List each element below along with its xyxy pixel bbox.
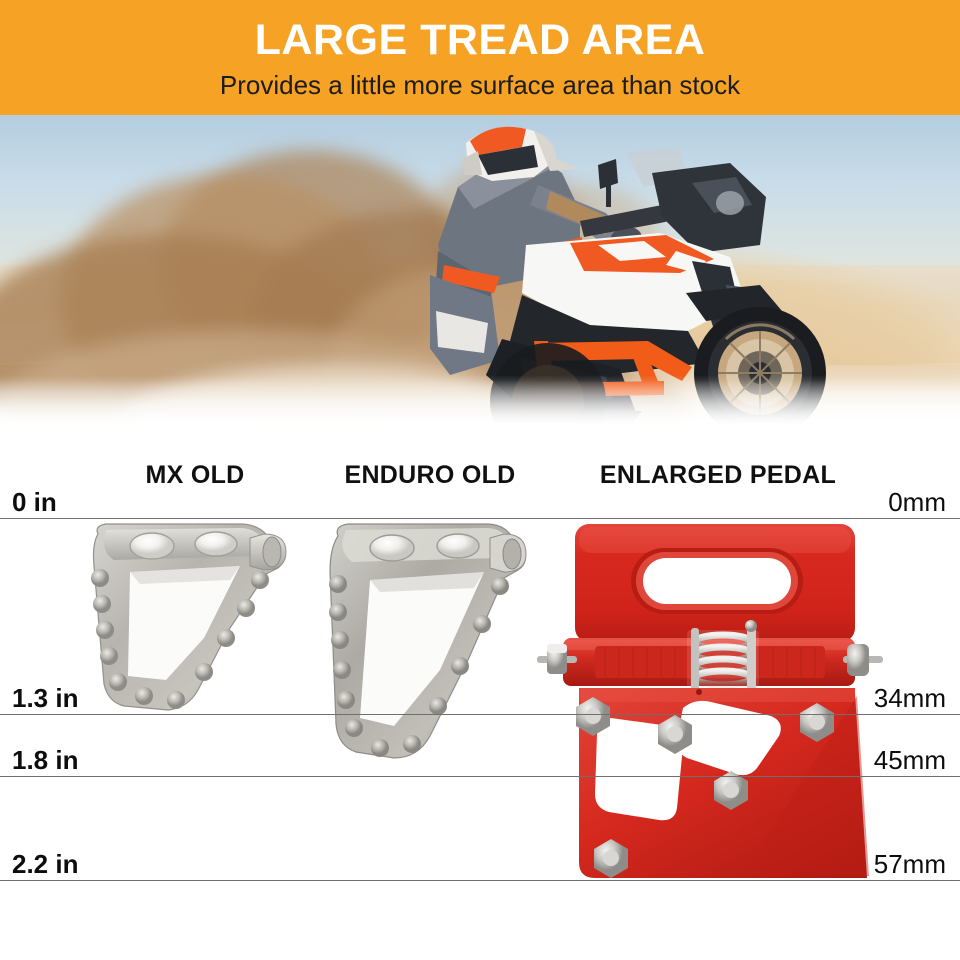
page-title: LARGE TREAD AREA	[0, 17, 960, 63]
scale-label-inches-1: 1.3 in	[12, 683, 78, 714]
pedal-tread-plate	[576, 688, 869, 878]
scale-rule-0in	[0, 518, 960, 519]
enduro-old-pedal	[318, 520, 548, 775]
mx-old-pedal	[80, 520, 310, 735]
helmet	[462, 127, 580, 181]
hero-photo	[0, 115, 960, 435]
scale-rule-1-8in	[0, 776, 960, 777]
scale-label-mm-2: 45mm	[874, 745, 946, 776]
page-subtitle: Provides a little more surface area than…	[0, 70, 960, 100]
scale-label-mm-0: 0mm	[888, 487, 946, 518]
scale-rule-2-2in	[0, 880, 960, 881]
scale-label-inches-2: 1.8 in	[12, 745, 78, 776]
enlarged-pedal	[535, 520, 885, 880]
pedal-top-plate	[575, 524, 855, 642]
column-label-mx-old: MX OLD	[145, 461, 244, 490]
scale-label-mm-3: 57mm	[874, 849, 946, 880]
scale-label-inches-3: 2.2 in	[12, 849, 78, 880]
return-spring	[687, 620, 759, 694]
scale-rule-1-3in	[0, 714, 960, 715]
scale-label-inches-0: 0 in	[12, 487, 57, 518]
scale-label-mm-1: 34mm	[874, 683, 946, 714]
header-banner: LARGE TREAD AREA Provides a little more …	[0, 0, 960, 115]
column-label-enduro-old: ENDURO OLD	[344, 461, 515, 490]
hero-bottom-fade	[0, 375, 960, 435]
infographic-page: LARGE TREAD AREA Provides a little more …	[0, 0, 960, 960]
column-label-enlarged-pedal: ENLARGED PEDAL	[600, 461, 836, 490]
pivot-bolt-right	[843, 644, 883, 676]
